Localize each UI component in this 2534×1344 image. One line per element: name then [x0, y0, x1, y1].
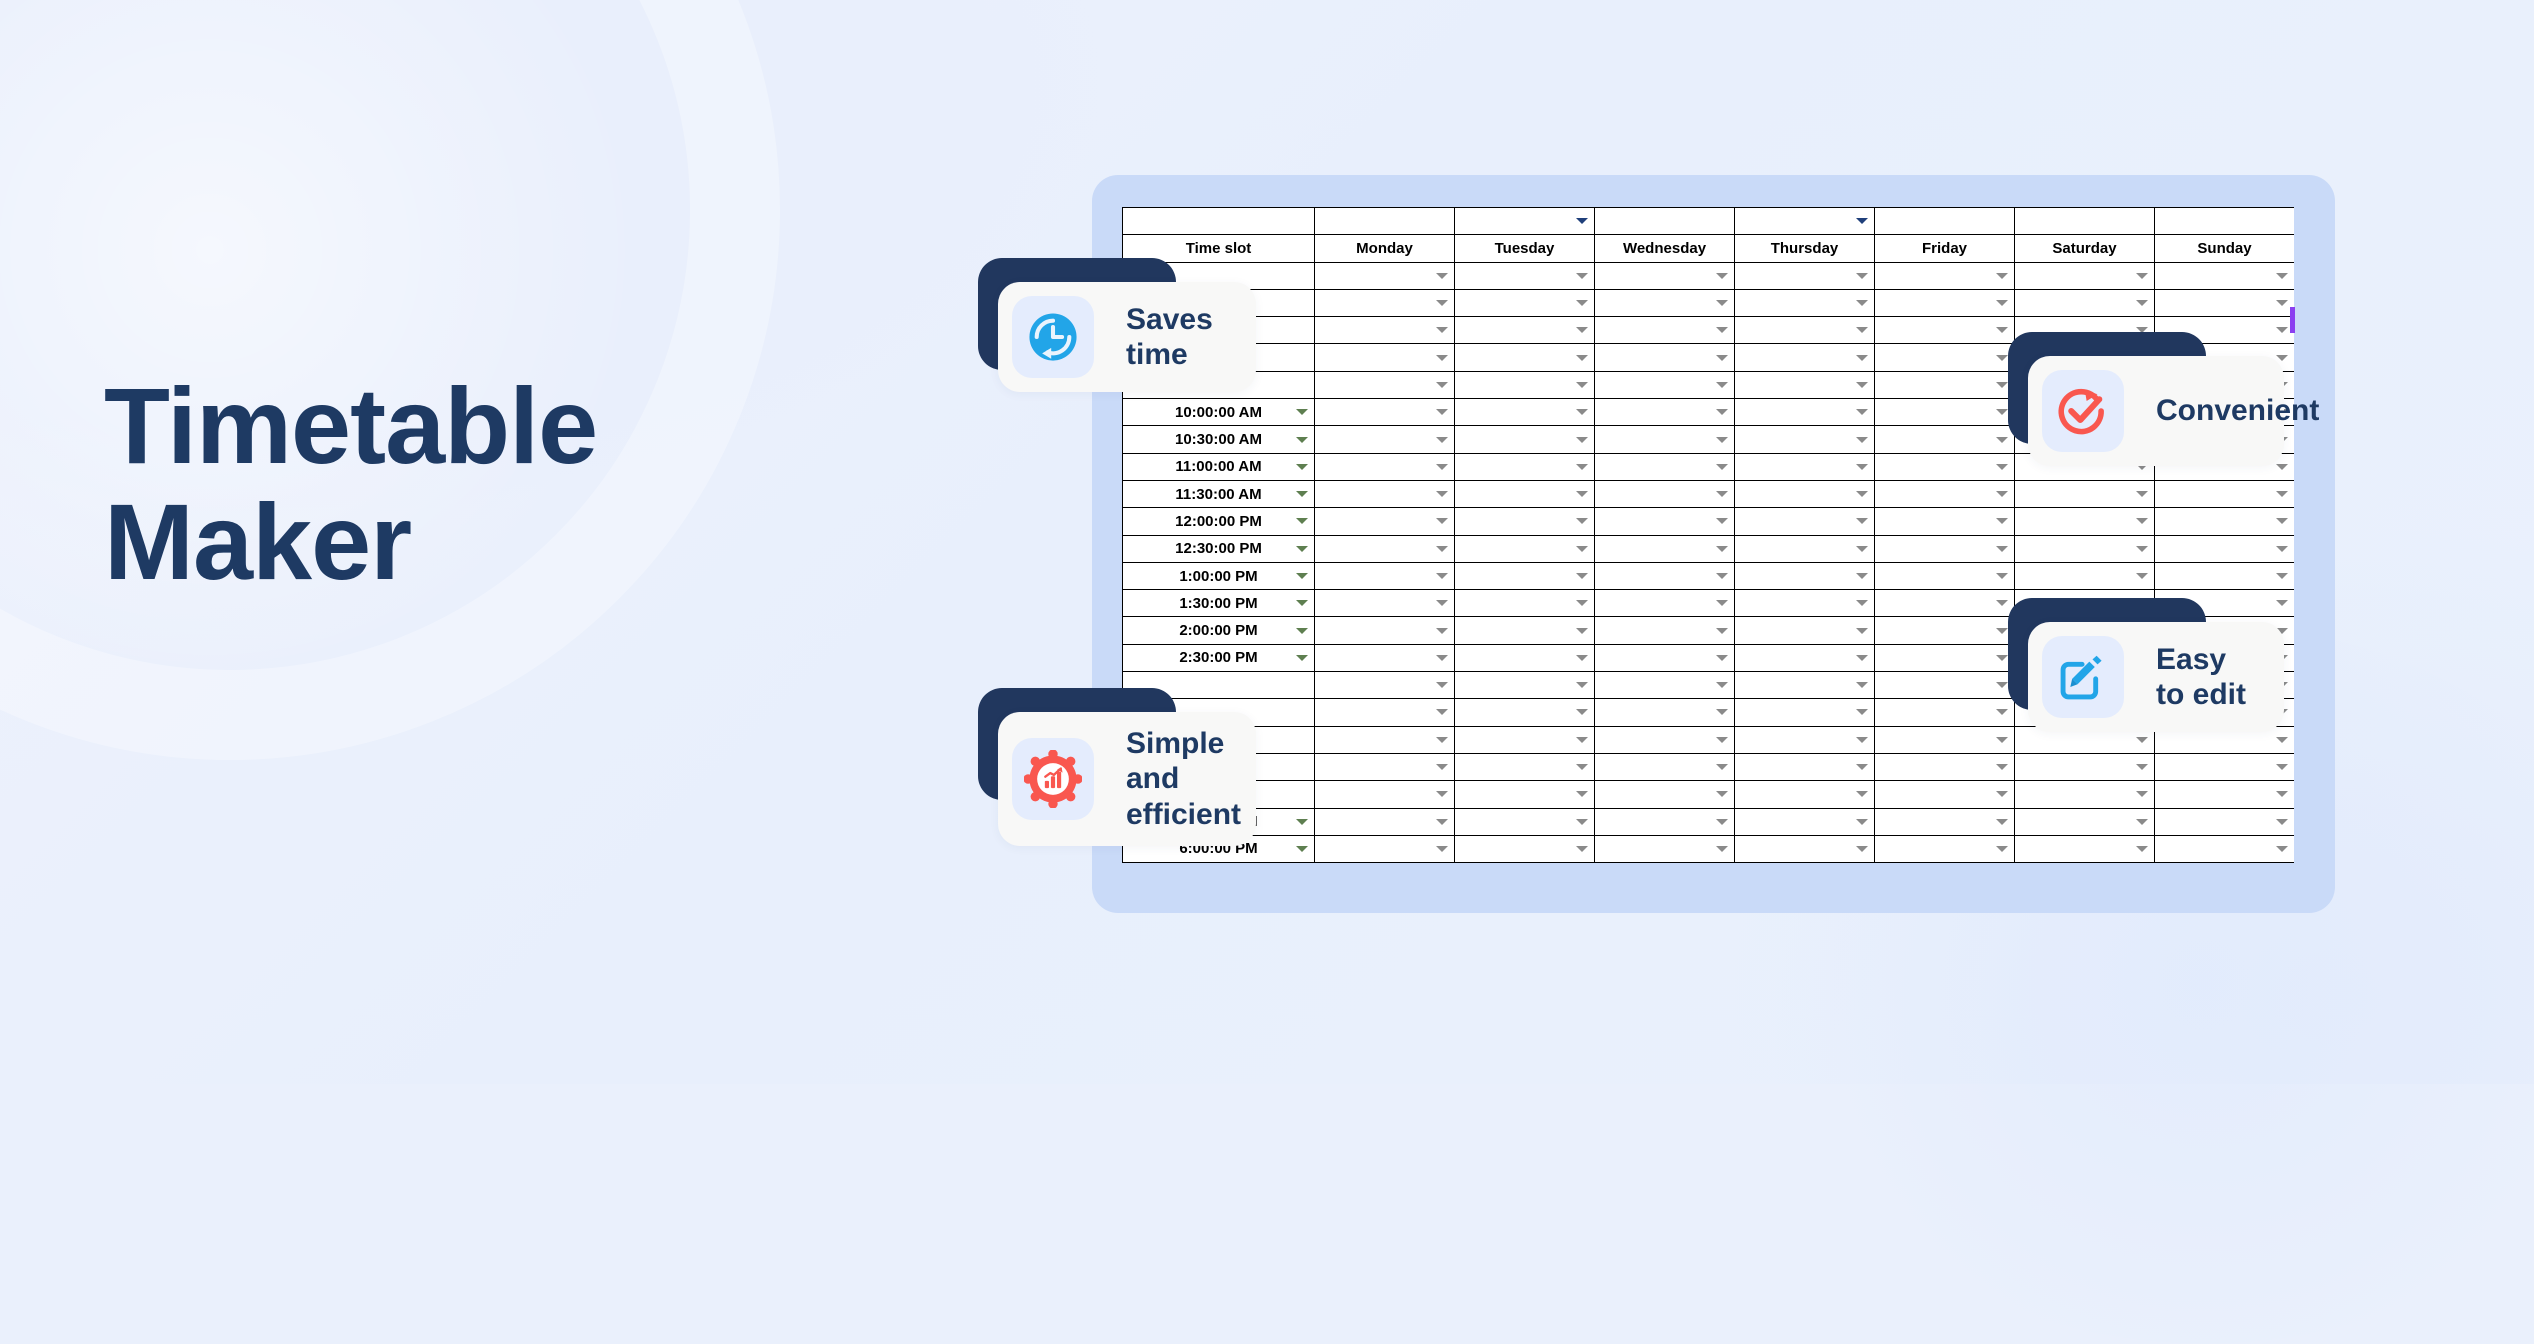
schedule-cell-select[interactable]: [1875, 808, 2015, 835]
schedule-cell-select[interactable]: [2015, 262, 2155, 289]
schedule-cell-select[interactable]: [2015, 480, 2155, 507]
pencil-square-icon: [2042, 636, 2124, 718]
schedule-cell-select[interactable]: [1875, 535, 2015, 562]
class-value-select[interactable]: 10: [1455, 208, 1595, 235]
schedule-cell-select[interactable]: [1595, 753, 1735, 780]
time-slot-select[interactable]: 2:00:00 PM: [1123, 617, 1315, 644]
chevron-down-icon: [1716, 737, 1728, 743]
chevron-down-icon: [1856, 573, 1868, 579]
schedule-cell-select[interactable]: [1315, 781, 1455, 808]
chevron-down-icon: [1576, 655, 1588, 661]
schedule-cell-select[interactable]: [1735, 590, 1875, 617]
schedule-cell-select[interactable]: [1315, 726, 1455, 753]
chevron-down-icon: [1576, 218, 1588, 224]
schedule-cell-select[interactable]: [1315, 508, 1455, 535]
schedule-cell-select[interactable]: [1315, 480, 1455, 507]
schedule-cell-select[interactable]: [1875, 508, 2015, 535]
schedule-cell-select[interactable]: [1315, 317, 1455, 344]
time-slot-select[interactable]: 10:00:00 AM: [1123, 399, 1315, 426]
schedule-cell-select[interactable]: [2155, 480, 2295, 507]
schedule-cell-select[interactable]: [1735, 753, 1875, 780]
schedule-cell-select[interactable]: [1735, 535, 1875, 562]
chevron-down-icon: [1576, 682, 1588, 688]
chevron-down-icon: [1716, 382, 1728, 388]
table-row: 6:00:00 PM: [1123, 835, 2295, 862]
chevron-down-icon: [1436, 628, 1448, 634]
chevron-down-icon: [2276, 273, 2288, 279]
schedule-cell-select[interactable]: [1315, 371, 1455, 398]
chevron-down-icon: [1996, 655, 2008, 661]
schedule-cell-select[interactable]: [1735, 672, 1875, 699]
chevron-down-icon: [1716, 600, 1728, 606]
schedule-cell-select[interactable]: [1595, 781, 1735, 808]
banner-blank-cell: [1875, 208, 2015, 235]
schedule-cell-select[interactable]: [1735, 371, 1875, 398]
chevron-down-icon: [1436, 846, 1448, 852]
schedule-cell-select[interactable]: [1455, 426, 1595, 453]
clock-rotate-icon: [1012, 296, 1094, 378]
chevron-down-icon: [1436, 273, 1448, 279]
chevron-down-icon: [2276, 819, 2288, 825]
schedule-cell-select[interactable]: [2155, 808, 2295, 835]
schedule-cell-select[interactable]: [1595, 480, 1735, 507]
chevron-down-icon: [1436, 382, 1448, 388]
schedule-cell-select[interactable]: [2015, 781, 2155, 808]
feature-card-body[interactable]: Easy to edit: [2028, 622, 2284, 732]
schedule-cell-select[interactable]: [1315, 426, 1455, 453]
schedule-cell-select[interactable]: [1455, 753, 1595, 780]
table-row: 5:30:00 PM: [1123, 808, 2295, 835]
schedule-cell-select[interactable]: [1315, 289, 1455, 316]
schedule-cell-select[interactable]: [1315, 835, 1455, 862]
chevron-down-icon: [2276, 327, 2288, 333]
schedule-cell-select[interactable]: [1455, 617, 1595, 644]
chevron-down-icon: [2136, 518, 2148, 524]
schedule-cell-select[interactable]: [1455, 399, 1595, 426]
chevron-down-icon: [1996, 518, 2008, 524]
chevron-down-icon: [1576, 382, 1588, 388]
page-title-line-2: Maker: [104, 484, 864, 600]
schedule-cell-select[interactable]: [2155, 781, 2295, 808]
feature-card-body[interactable]: Saves time: [998, 282, 1256, 392]
schedule-cell-select[interactable]: [1595, 262, 1735, 289]
chevron-down-icon: [1716, 846, 1728, 852]
schedule-cell-select[interactable]: [1315, 753, 1455, 780]
schedule-cell-select[interactable]: [1455, 453, 1595, 480]
chevron-down-icon: [1856, 791, 1868, 797]
feature-label: Simple and efficient: [1126, 726, 1241, 832]
chevron-down-icon: [1576, 409, 1588, 415]
schedule-cell-select[interactable]: [1595, 808, 1735, 835]
chevron-down-icon: [1856, 628, 1868, 634]
schedule-cell-select[interactable]: [1595, 590, 1735, 617]
schedule-cell-select[interactable]: [1455, 726, 1595, 753]
time-slot-select[interactable]: 2:30:00 PM: [1123, 644, 1315, 671]
schedule-cell-select[interactable]: [1595, 317, 1735, 344]
time-slot-select[interactable]: 11:00:00 AM: [1123, 453, 1315, 480]
chevron-down-icon: [1996, 409, 2008, 415]
page-title-line-1: Timetable: [104, 368, 864, 484]
schedule-cell-select[interactable]: [1875, 726, 2015, 753]
chevron-down-icon: [1436, 491, 1448, 497]
schedule-cell-select[interactable]: [1735, 317, 1875, 344]
schedule-cell-select[interactable]: [2155, 262, 2295, 289]
class-label-cell: Class: [1315, 208, 1455, 235]
schedule-cell-select[interactable]: [1455, 835, 1595, 862]
chevron-down-icon: [2136, 791, 2148, 797]
schedule-cell-select[interactable]: [1455, 781, 1595, 808]
chevron-down-icon: [1296, 600, 1308, 606]
schedule-cell-select[interactable]: [1595, 289, 1735, 316]
chevron-down-icon: [1996, 382, 2008, 388]
chevron-down-icon: [2136, 300, 2148, 306]
chevron-down-icon: [1996, 273, 2008, 279]
chevron-down-icon: [1436, 709, 1448, 715]
chevron-down-icon: [1996, 464, 2008, 470]
chevron-down-icon: [1996, 327, 2008, 333]
chevron-down-icon: [1296, 546, 1308, 552]
chevron-down-icon: [1856, 764, 1868, 770]
feature-label: Convenient: [2156, 393, 2319, 428]
chevron-down-icon: [1716, 546, 1728, 552]
chevron-down-icon: [1716, 355, 1728, 361]
chevron-down-icon: [1716, 682, 1728, 688]
chevron-down-icon: [2276, 764, 2288, 770]
chevron-down-icon: [1296, 628, 1308, 634]
chevron-down-icon: [1856, 464, 1868, 470]
schedule-cell-select[interactable]: [1595, 726, 1735, 753]
chevron-down-icon: [1856, 409, 1868, 415]
chevron-down-icon: [1436, 409, 1448, 415]
schedule-cell-select[interactable]: [1735, 289, 1875, 316]
schedule-cell-select[interactable]: [1455, 371, 1595, 398]
schedule-cell-select[interactable]: [1595, 508, 1735, 535]
chevron-down-icon: [2276, 791, 2288, 797]
schedule-cell-select[interactable]: [2015, 808, 2155, 835]
schedule-cell-select[interactable]: [1315, 535, 1455, 562]
schedule-cell-select[interactable]: [1595, 399, 1735, 426]
schedule-cell-select[interactable]: [2155, 562, 2295, 589]
chevron-down-icon: [1436, 300, 1448, 306]
table-row: 1:00:00 PM: [1123, 562, 2295, 589]
column-header-tuesday: Tuesday: [1455, 235, 1595, 262]
schedule-cell-select[interactable]: [1455, 562, 1595, 589]
feature-card-body[interactable]: Convenient: [2028, 356, 2284, 466]
chevron-down-icon: [1576, 846, 1588, 852]
time-slot-select[interactable]: 1:30:00 PM: [1123, 590, 1315, 617]
schedule-cell-select[interactable]: [2155, 835, 2295, 862]
banner-blank-cell: [1123, 208, 1315, 235]
schedule-cell-select[interactable]: [2015, 508, 2155, 535]
schedule-cell-select[interactable]: [1595, 699, 1735, 726]
chevron-down-icon: [1996, 300, 2008, 306]
schedule-cell-select[interactable]: [1875, 262, 2015, 289]
gear-chart-icon: [1012, 738, 1094, 820]
schedule-cell-select[interactable]: [1595, 617, 1735, 644]
sheet-banner-row: Class10SectionA: [1123, 208, 2295, 235]
schedule-cell-select[interactable]: [1875, 426, 2015, 453]
chevron-down-icon: [1436, 327, 1448, 333]
chevron-down-icon: [1436, 764, 1448, 770]
chevron-down-icon: [1996, 437, 2008, 443]
timetable-grid: Class10SectionATime slotMondayTuesdayWed…: [1122, 207, 2294, 863]
chevron-down-icon: [1716, 709, 1728, 715]
chevron-down-icon: [2276, 737, 2288, 743]
chevron-down-icon: [1856, 846, 1868, 852]
schedule-cell-select[interactable]: [2155, 535, 2295, 562]
schedule-cell-select[interactable]: [1875, 371, 2015, 398]
chevron-down-icon: [1856, 600, 1868, 606]
chevron-down-icon: [1296, 846, 1308, 852]
schedule-cell-select[interactable]: [1315, 562, 1455, 589]
schedule-cell-select[interactable]: [1875, 644, 2015, 671]
chevron-down-icon: [1716, 437, 1728, 443]
chevron-down-icon: [1716, 300, 1728, 306]
chevron-down-icon: [2276, 573, 2288, 579]
chevron-down-icon: [1436, 682, 1448, 688]
chevron-down-icon: [1296, 518, 1308, 524]
schedule-cell-select[interactable]: [1735, 562, 1875, 589]
chevron-down-icon: [2276, 546, 2288, 552]
chevron-down-icon: [1856, 682, 1868, 688]
schedule-cell-select[interactable]: [2155, 289, 2295, 316]
column-header-thursday: Thursday: [1735, 235, 1875, 262]
schedule-cell-select[interactable]: [1875, 453, 2015, 480]
time-slot-select[interactable]: 1:00:00 PM: [1123, 562, 1315, 589]
schedule-cell-select[interactable]: [1315, 808, 1455, 835]
schedule-cell-select[interactable]: [1735, 508, 1875, 535]
chevron-down-icon: [1296, 464, 1308, 470]
chevron-down-icon: [2276, 300, 2288, 306]
feature-label: Easy to edit: [2156, 642, 2246, 713]
schedule-cell-select[interactable]: [1875, 289, 2015, 316]
table-row: [1123, 753, 2295, 780]
schedule-cell-select[interactable]: [1875, 399, 2015, 426]
time-slot-select[interactable]: 12:30:00 PM: [1123, 535, 1315, 562]
schedule-cell-select[interactable]: [2015, 753, 2155, 780]
chevron-down-icon: [1576, 464, 1588, 470]
chevron-down-icon: [1856, 518, 1868, 524]
chevron-down-icon: [2136, 491, 2148, 497]
column-header-saturday: Saturday: [2015, 235, 2155, 262]
schedule-cell-select[interactable]: [1875, 753, 2015, 780]
column-header-monday: Monday: [1315, 235, 1455, 262]
chevron-down-icon: [1716, 791, 1728, 797]
schedule-cell-select[interactable]: [1595, 835, 1735, 862]
feature-card-body[interactable]: Simple and efficient: [998, 712, 1256, 846]
column-header-wednesday: Wednesday: [1595, 235, 1735, 262]
schedule-cell-select[interactable]: [1455, 344, 1595, 371]
chevron-down-icon: [2136, 846, 2148, 852]
chevron-down-icon: [2276, 491, 2288, 497]
chevron-down-icon: [1856, 655, 1868, 661]
chevron-down-icon: [1716, 327, 1728, 333]
schedule-cell-select[interactable]: [1875, 699, 2015, 726]
schedule-cell-select[interactable]: [1315, 617, 1455, 644]
chevron-down-icon: [1436, 791, 1448, 797]
chevron-down-icon: [2136, 573, 2148, 579]
time-slot-select[interactable]: 12:00:00 PM: [1123, 508, 1315, 535]
schedule-cell-select[interactable]: [2015, 535, 2155, 562]
schedule-cell-select[interactable]: [1455, 808, 1595, 835]
schedule-cell-select[interactable]: [1735, 781, 1875, 808]
schedule-cell-select[interactable]: [1315, 453, 1455, 480]
schedule-cell-select[interactable]: [1875, 617, 2015, 644]
chevron-down-icon: [1436, 464, 1448, 470]
cell-selection-indicator: [2290, 307, 2295, 333]
schedule-cell-select[interactable]: [1875, 562, 2015, 589]
chevron-down-icon: [1856, 737, 1868, 743]
section-value-select[interactable]: A: [1735, 208, 1875, 235]
schedule-cell-select[interactable]: [1735, 808, 1875, 835]
schedule-cell-select[interactable]: [1735, 644, 1875, 671]
chevron-down-icon: [1996, 737, 2008, 743]
schedule-cell-select[interactable]: [1315, 699, 1455, 726]
chevron-down-icon: [1996, 764, 2008, 770]
schedule-cell-select[interactable]: [1595, 672, 1735, 699]
schedule-cell-select[interactable]: [1455, 672, 1595, 699]
chevron-down-icon: [1296, 491, 1308, 497]
schedule-cell-select[interactable]: [1455, 508, 1595, 535]
chevron-down-icon: [1856, 218, 1868, 224]
chevron-down-icon: [1856, 355, 1868, 361]
spreadsheet-viewport: Class10SectionATime slotMondayTuesdayWed…: [1122, 207, 2294, 879]
schedule-cell-select[interactable]: [1875, 317, 2015, 344]
schedule-cell-select[interactable]: [1875, 835, 2015, 862]
schedule-cell-select[interactable]: [1735, 453, 1875, 480]
chevron-down-icon: [1716, 409, 1728, 415]
chevron-down-icon: [1576, 791, 1588, 797]
chevron-down-icon: [1996, 573, 2008, 579]
schedule-cell-select[interactable]: [1735, 399, 1875, 426]
schedule-cell-select[interactable]: [1735, 344, 1875, 371]
schedule-cell-select[interactable]: [1455, 535, 1595, 562]
schedule-cell-select[interactable]: [1595, 535, 1735, 562]
schedule-cell-select[interactable]: [1315, 590, 1455, 617]
chevron-down-icon: [1856, 546, 1868, 552]
chevron-down-icon: [1436, 737, 1448, 743]
chevron-down-icon: [2136, 546, 2148, 552]
column-header-friday: Friday: [1875, 235, 2015, 262]
schedule-cell-select[interactable]: [2015, 835, 2155, 862]
chevron-down-icon: [1996, 709, 2008, 715]
chevron-down-icon: [1996, 682, 2008, 688]
chevron-down-icon: [1576, 764, 1588, 770]
schedule-cell-select[interactable]: [1595, 426, 1735, 453]
schedule-cell-select[interactable]: [1315, 262, 1455, 289]
schedule-cell-select[interactable]: [1455, 262, 1595, 289]
schedule-cell-select[interactable]: [1455, 317, 1595, 344]
schedule-cell-select[interactable]: [1875, 344, 2015, 371]
check-circle-arrow-icon: [2042, 370, 2124, 452]
schedule-cell-select[interactable]: [2015, 562, 2155, 589]
chevron-down-icon: [1996, 791, 2008, 797]
schedule-cell-select[interactable]: [1735, 726, 1875, 753]
schedule-cell-select[interactable]: [1455, 480, 1595, 507]
table-row: [1123, 262, 2295, 289]
column-header-sunday: Sunday: [2155, 235, 2295, 262]
schedule-cell-select[interactable]: [1315, 672, 1455, 699]
chevron-down-icon: [1996, 846, 2008, 852]
chevron-down-icon: [1716, 464, 1728, 470]
schedule-cell-select[interactable]: [1315, 644, 1455, 671]
schedule-cell-select[interactable]: [1595, 344, 1735, 371]
schedule-cell-select[interactable]: [1735, 699, 1875, 726]
chevron-down-icon: [1716, 573, 1728, 579]
chevron-down-icon: [1436, 819, 1448, 825]
chevron-down-icon: [1576, 518, 1588, 524]
page-title: Timetable Maker: [104, 368, 864, 599]
feature-label: Saves time: [1126, 302, 1218, 373]
schedule-cell-select[interactable]: [1315, 344, 1455, 371]
schedule-cell-select[interactable]: [1735, 262, 1875, 289]
schedule-cell-select[interactable]: [2155, 508, 2295, 535]
schedule-cell-select[interactable]: [1595, 371, 1735, 398]
chevron-down-icon: [1436, 573, 1448, 579]
schedule-cell-select[interactable]: [1735, 480, 1875, 507]
schedule-cell-select[interactable]: [1315, 399, 1455, 426]
chevron-down-icon: [1296, 437, 1308, 443]
schedule-cell-select[interactable]: [1595, 644, 1735, 671]
chevron-down-icon: [2276, 846, 2288, 852]
chevron-down-icon: [1296, 573, 1308, 579]
schedule-cell-select[interactable]: [1875, 590, 2015, 617]
chevron-down-icon: [1576, 819, 1588, 825]
schedule-cell-select[interactable]: [2015, 289, 2155, 316]
schedule-cell-select[interactable]: [2155, 753, 2295, 780]
schedule-cell-select[interactable]: [1875, 781, 2015, 808]
chevron-down-icon: [1576, 437, 1588, 443]
schedule-cell-select[interactable]: [1735, 426, 1875, 453]
schedule-cell-select[interactable]: [1595, 453, 1735, 480]
chevron-down-icon: [1996, 600, 2008, 606]
schedule-cell-select[interactable]: [1455, 289, 1595, 316]
chevron-down-icon: [2136, 273, 2148, 279]
table-row: 11:30:00 AM: [1123, 480, 2295, 507]
time-slot-select[interactable]: 10:30:00 AM: [1123, 426, 1315, 453]
banner-blank-cell: [2155, 208, 2295, 235]
chevron-down-icon: [1856, 819, 1868, 825]
schedule-cell-select[interactable]: [1735, 617, 1875, 644]
schedule-cell-select[interactable]: [1735, 835, 1875, 862]
chevron-down-icon: [1996, 491, 2008, 497]
schedule-cell-select[interactable]: [1875, 672, 2015, 699]
chevron-down-icon: [1716, 819, 1728, 825]
chevron-down-icon: [1716, 518, 1728, 524]
chevron-down-icon: [2276, 600, 2288, 606]
chevron-down-icon: [1996, 355, 2008, 361]
chevron-down-icon: [2136, 737, 2148, 743]
chevron-down-icon: [1296, 819, 1308, 825]
chevron-down-icon: [1856, 437, 1868, 443]
chevron-down-icon: [1856, 327, 1868, 333]
chevron-down-icon: [1856, 382, 1868, 388]
chevron-down-icon: [1576, 300, 1588, 306]
schedule-cell-select[interactable]: [1455, 699, 1595, 726]
chevron-down-icon: [1296, 655, 1308, 661]
chevron-down-icon: [2136, 819, 2148, 825]
schedule-cell-select[interactable]: [1875, 480, 2015, 507]
sheet-column-header-row: Time slotMondayTuesdayWednesdayThursdayF…: [1123, 235, 2295, 262]
schedule-cell-select[interactable]: [1455, 644, 1595, 671]
schedule-cell-select[interactable]: [1595, 562, 1735, 589]
chevron-down-icon: [1716, 764, 1728, 770]
table-row: 12:00:00 PM: [1123, 508, 2295, 535]
schedule-cell-select[interactable]: [1455, 590, 1595, 617]
chevron-down-icon: [1716, 655, 1728, 661]
time-slot-select[interactable]: 11:30:00 AM: [1123, 480, 1315, 507]
chevron-down-icon: [1856, 491, 1868, 497]
